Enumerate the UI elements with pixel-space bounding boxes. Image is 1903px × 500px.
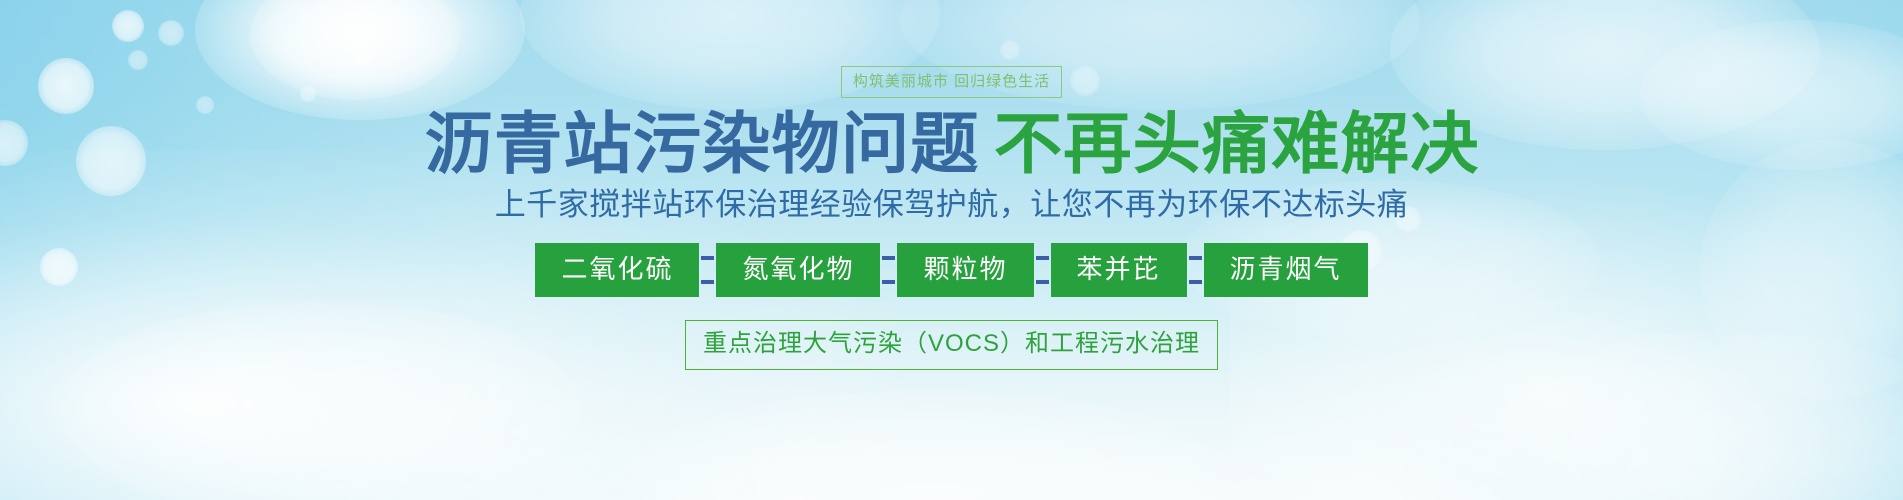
headline: 沥青站污染物问题不再头痛难解决 bbox=[424, 110, 1479, 178]
pill-nitrogen-oxides[interactable]: 氮氧化物 bbox=[716, 243, 880, 297]
banner-content: 构筑美丽城市 回归绿色生活 沥青站污染物问题不再头痛难解决 上千家搅拌站环保治理… bbox=[0, 0, 1903, 500]
pill-separator-icon bbox=[699, 243, 716, 297]
tagline-chip: 构筑美丽城市 回归绿色生活 bbox=[841, 66, 1062, 98]
pill-particulates[interactable]: 颗粒物 bbox=[897, 243, 1033, 297]
pill-separator-icon bbox=[1034, 243, 1051, 297]
pill-separator-icon bbox=[1187, 243, 1204, 297]
headline-green-text: 不再头痛难解决 bbox=[993, 105, 1479, 183]
pill-asphalt-fumes[interactable]: 沥青烟气 bbox=[1204, 243, 1368, 297]
hero-banner: 构筑美丽城市 回归绿色生活 沥青站污染物问题不再头痛难解决 上千家搅拌站环保治理… bbox=[0, 0, 1903, 500]
pollutant-pill-row: 二氧化硫 氮氧化物 颗粒物 苯并芘 沥青烟气 bbox=[535, 243, 1367, 297]
footer-note-box: 重点治理大气污染（VOCS）和工程污水治理 bbox=[685, 320, 1218, 370]
headline-blue-text: 沥青站污染物问题 bbox=[424, 105, 979, 183]
pill-separator-icon bbox=[880, 243, 897, 297]
pill-benzopyrene[interactable]: 苯并芘 bbox=[1051, 243, 1187, 297]
pill-sulfur-dioxide[interactable]: 二氧化硫 bbox=[535, 243, 699, 297]
subtitle: 上千家搅拌站环保治理经验保驾护航，让您不再为环保不达标头痛 bbox=[495, 186, 1409, 223]
